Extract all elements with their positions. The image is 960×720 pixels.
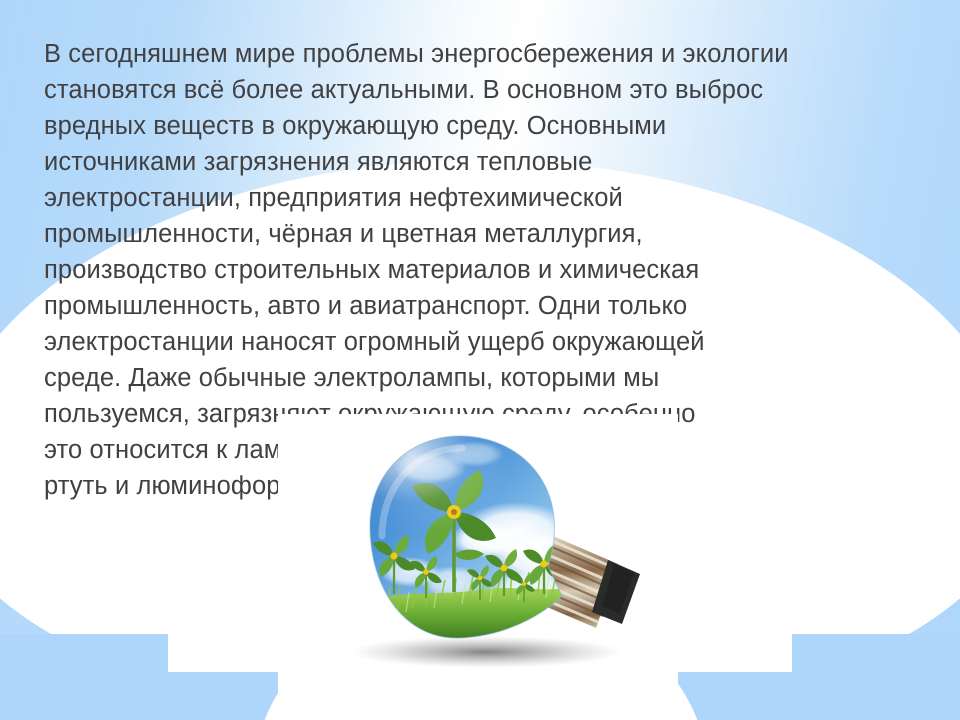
glass-highlight bbox=[352, 422, 536, 570]
bulb-glass-scene bbox=[352, 422, 588, 648]
bulb-drop-shadow bbox=[350, 636, 622, 668]
eco-lightbulb-image bbox=[278, 414, 678, 696]
slide-canvas: В сегодняшнем мире проблемы энергосбереж… bbox=[0, 0, 960, 720]
lightbulb-illustration bbox=[278, 414, 678, 696]
